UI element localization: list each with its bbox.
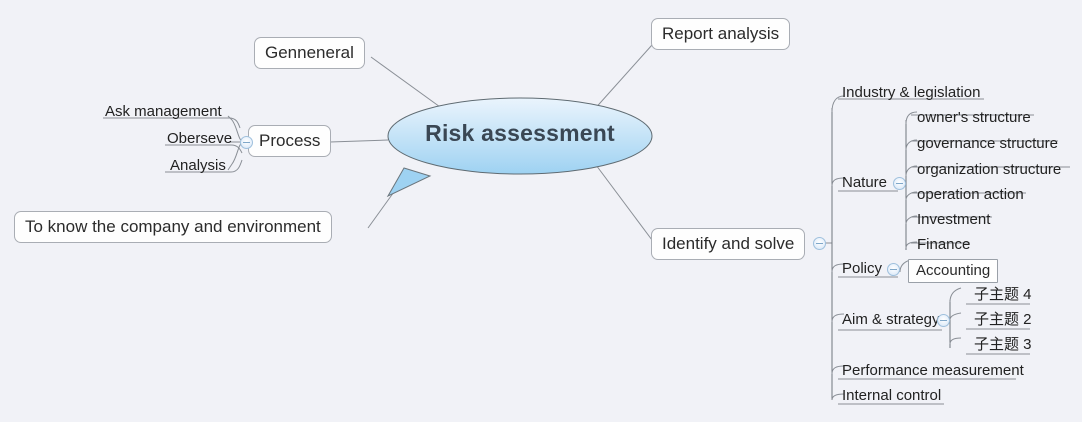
node-policy[interactable]: Policy <box>840 261 884 279</box>
node-ask-management[interactable]: Ask management <box>103 104 224 122</box>
node-to-know-company[interactable]: To know the company and environment <box>14 211 332 243</box>
wire-center-genneneral <box>371 57 447 112</box>
node-industry-legislation[interactable]: Industry & legislation <box>840 85 982 103</box>
collapse-toggle-process[interactable] <box>240 136 253 149</box>
node-accounting[interactable]: Accounting <box>908 259 998 283</box>
mindmap-canvas: Risk assessment Genneneral Process To kn… <box>0 0 1082 422</box>
fork-zhuti3 <box>950 338 961 344</box>
center-bubble-shape <box>388 98 652 196</box>
node-finance[interactable]: Finance <box>915 237 972 255</box>
collapse-toggle-aim-strategy[interactable] <box>937 314 950 327</box>
wire-center-toknow <box>368 178 404 228</box>
node-identify-and-solve[interactable]: Identify and solve <box>651 228 805 260</box>
node-zhuti-3[interactable]: 子主题 3 <box>972 337 1034 355</box>
node-zhuti-4[interactable]: 子主题 4 <box>972 287 1034 305</box>
node-zhuti-2[interactable]: 子主题 2 <box>972 312 1034 330</box>
wire-center-identify <box>596 165 652 240</box>
wire-center-report <box>592 45 652 112</box>
node-operation-action[interactable]: operation action <box>915 187 1026 205</box>
node-oberseve[interactable]: Oberseve <box>165 131 234 149</box>
wire-center-process <box>330 140 388 142</box>
center-node-label[interactable]: Risk assessment <box>388 120 652 147</box>
node-aim-strategy[interactable]: Aim & strategy <box>840 312 942 330</box>
node-owners-structure[interactable]: owner's structure <box>915 110 1033 128</box>
node-governance-structure[interactable]: governance structure <box>915 136 1060 154</box>
node-analysis[interactable]: Analysis <box>168 158 228 176</box>
node-genneneral[interactable]: Genneneral <box>254 37 365 69</box>
node-internal-control[interactable]: Internal control <box>840 388 943 406</box>
node-performance-measurement[interactable]: Performance measurement <box>840 363 1026 381</box>
collapse-toggle-nature[interactable] <box>893 177 906 190</box>
node-nature[interactable]: Nature <box>840 175 889 193</box>
node-organization-structure[interactable]: organization structure <box>915 162 1063 180</box>
collapse-toggle-identify[interactable] <box>813 237 826 250</box>
node-report-analysis[interactable]: Report analysis <box>651 18 790 50</box>
node-investment[interactable]: Investment <box>915 212 992 230</box>
node-process[interactable]: Process <box>248 125 331 157</box>
fork-zhuti2 <box>950 313 961 320</box>
collapse-toggle-policy[interactable] <box>887 263 900 276</box>
fork-zhuti4 <box>950 288 961 302</box>
